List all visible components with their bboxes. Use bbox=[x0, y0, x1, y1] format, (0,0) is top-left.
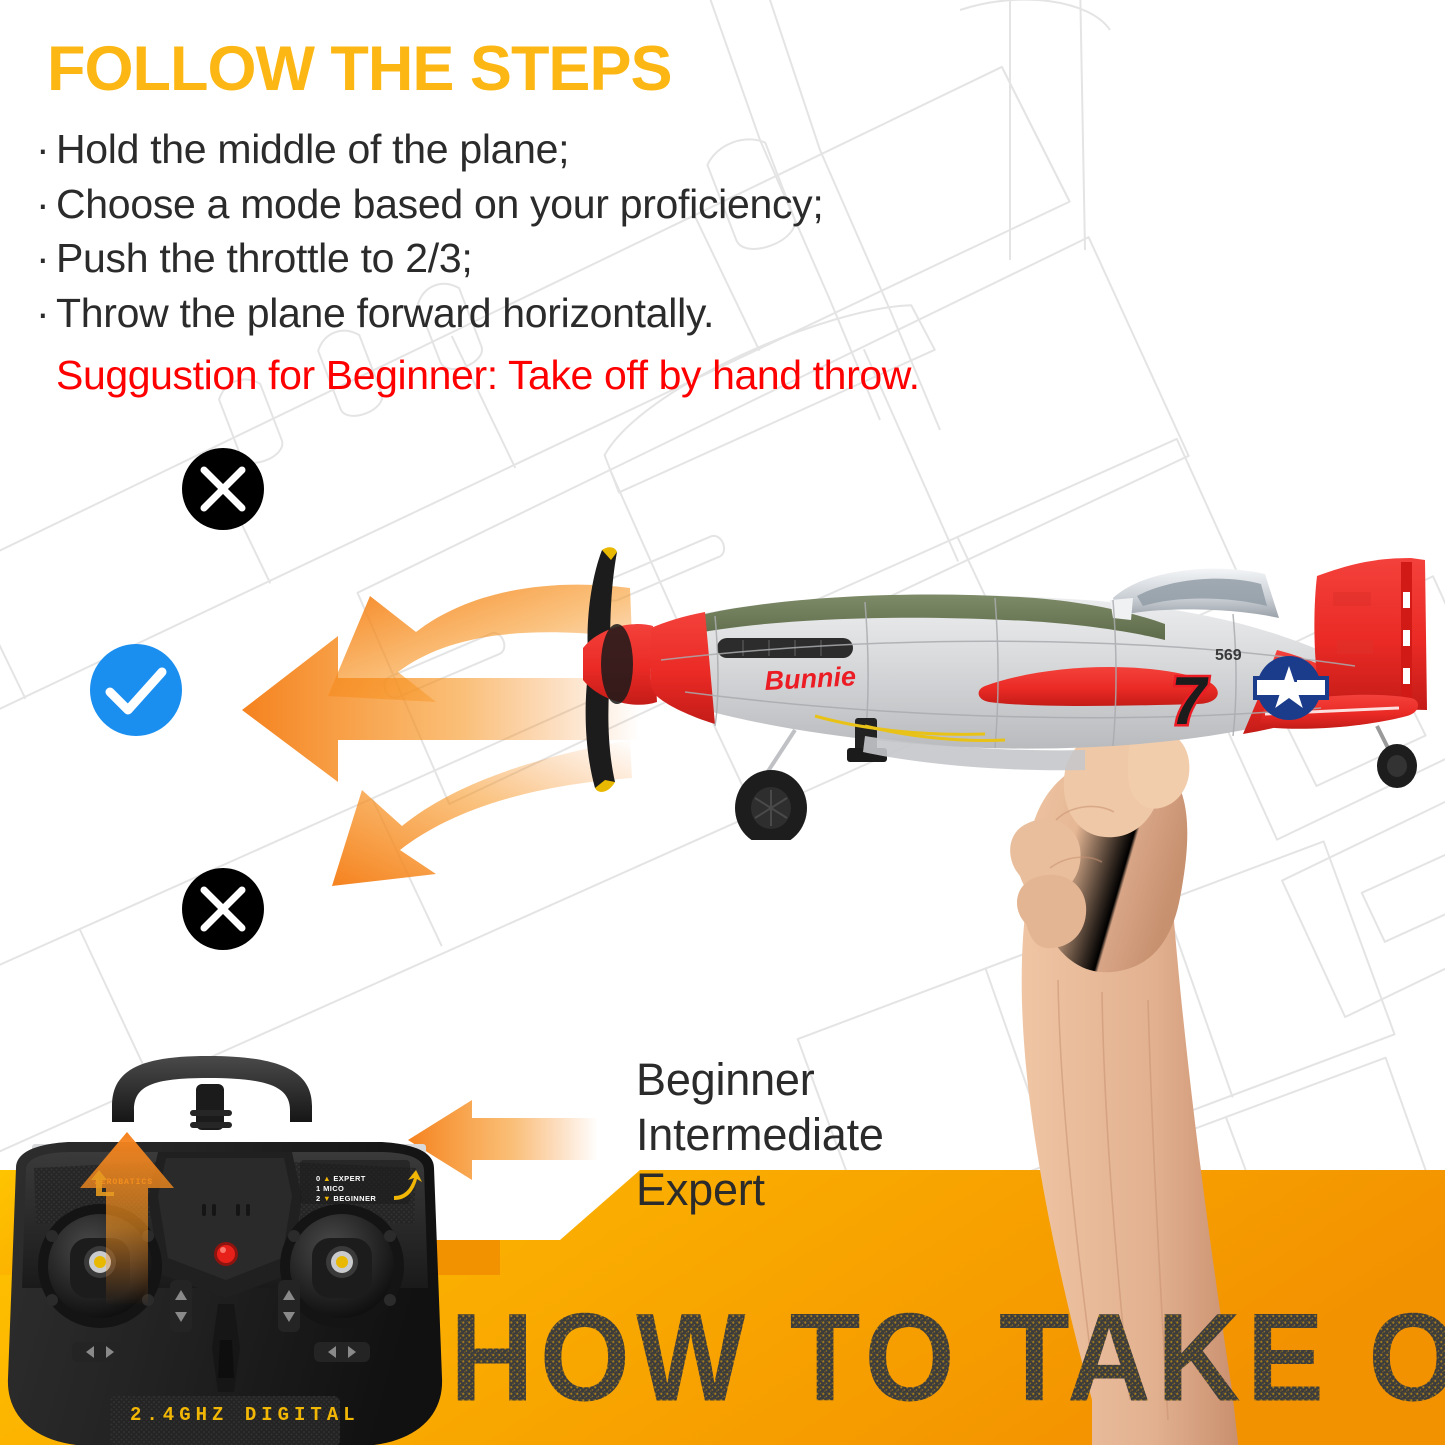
check-mark-icon bbox=[90, 644, 182, 736]
caret-down-icon: ▼ bbox=[323, 1194, 331, 1203]
list-item: ·Throw the plane forward horizontally. bbox=[36, 286, 1086, 341]
status-badge-correct bbox=[90, 644, 182, 736]
step-text: Throw the plane forward horizontally. bbox=[56, 290, 714, 336]
bullet-icon: · bbox=[36, 122, 56, 177]
rc-transmitter bbox=[0, 1048, 460, 1445]
rc-airplane-p51-mustang: Bunnie 7 569 bbox=[565, 540, 1445, 840]
infographic-canvas: FOLLOW THE STEPS ·Hold the middle of the… bbox=[0, 0, 1445, 1445]
mode-label-beginner: Beginner bbox=[636, 1053, 884, 1108]
mode-label-expert: Expert bbox=[636, 1163, 884, 1218]
flight-mode-labels: Beginner Intermediate Expert bbox=[636, 1053, 884, 1218]
steps-list: ·Hold the middle of the plane; ·Choose a… bbox=[36, 122, 1086, 340]
mode-label-intermediate: Intermediate bbox=[636, 1108, 884, 1163]
aerobatics-pointer-arrow bbox=[72, 1128, 182, 1308]
page-title: FOLLOW THE STEPS bbox=[47, 38, 672, 101]
bullet-icon: · bbox=[36, 231, 56, 286]
vertical-stabilizer bbox=[1314, 558, 1427, 710]
landing-gear bbox=[735, 718, 887, 840]
switch-row-mid: 1 MICO bbox=[316, 1184, 344, 1193]
bullet-icon: · bbox=[36, 286, 56, 341]
switch-row-expert: 0 ▲ EXPERT bbox=[316, 1174, 366, 1183]
switch-row-beginner: 2 ▼ BEGINNER bbox=[316, 1194, 376, 1203]
power-led bbox=[217, 1245, 235, 1263]
status-badge-wrong-up bbox=[182, 448, 264, 530]
aerobatics-small-arrow bbox=[88, 1168, 122, 1198]
list-item: ·Hold the middle of the plane; bbox=[36, 122, 1086, 177]
step-text: Choose a mode based on your proficiency; bbox=[56, 181, 823, 227]
x-mark-icon bbox=[182, 868, 264, 950]
caret-up-icon: ▲ bbox=[323, 1174, 331, 1183]
x-mark-icon bbox=[182, 448, 264, 530]
list-item: ·Choose a mode based on your proficiency… bbox=[36, 177, 1086, 232]
beginner-suggestion: Suggustion for Beginner: Take off by han… bbox=[56, 352, 920, 399]
plane-serial: 569 bbox=[1215, 647, 1242, 664]
plane-nose-art: Bunnie bbox=[764, 661, 857, 696]
tail-wheel bbox=[1377, 726, 1417, 788]
status-badge-wrong-down bbox=[182, 868, 264, 950]
step-text: Hold the middle of the plane; bbox=[56, 126, 569, 172]
step-text: Push the throttle to 2/3; bbox=[56, 235, 472, 281]
mode-switch-pointer-arrow bbox=[388, 1168, 424, 1202]
antenna bbox=[190, 1084, 232, 1130]
bullet-icon: · bbox=[36, 177, 56, 232]
list-item: ·Push the throttle to 2/3; bbox=[36, 231, 1086, 286]
transmitter-brand-text: 2.4GHZ DIGITAL bbox=[130, 1404, 360, 1426]
